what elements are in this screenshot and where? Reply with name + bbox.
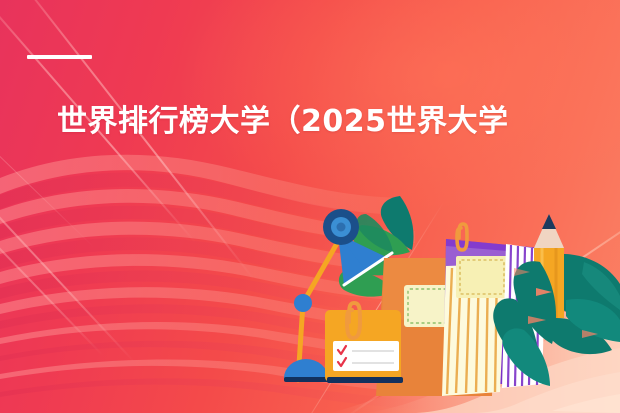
lamp-base (284, 359, 328, 378)
lamp-arm-upper (303, 238, 340, 303)
lamp-joint (294, 294, 312, 312)
title-divider-rule (27, 55, 92, 59)
sticky-note (456, 256, 508, 298)
study-desk-illustration (0, 0, 620, 413)
clipboard-shadow (327, 377, 403, 383)
banner-image: 世界排行榜大学（2025世界大学 (0, 0, 620, 413)
pencil-tip (542, 214, 556, 229)
clipboard-paper (333, 341, 399, 371)
page-title: 世界排行榜大学（2025世界大学 (57, 103, 509, 141)
clipboard-checklist (325, 303, 403, 383)
